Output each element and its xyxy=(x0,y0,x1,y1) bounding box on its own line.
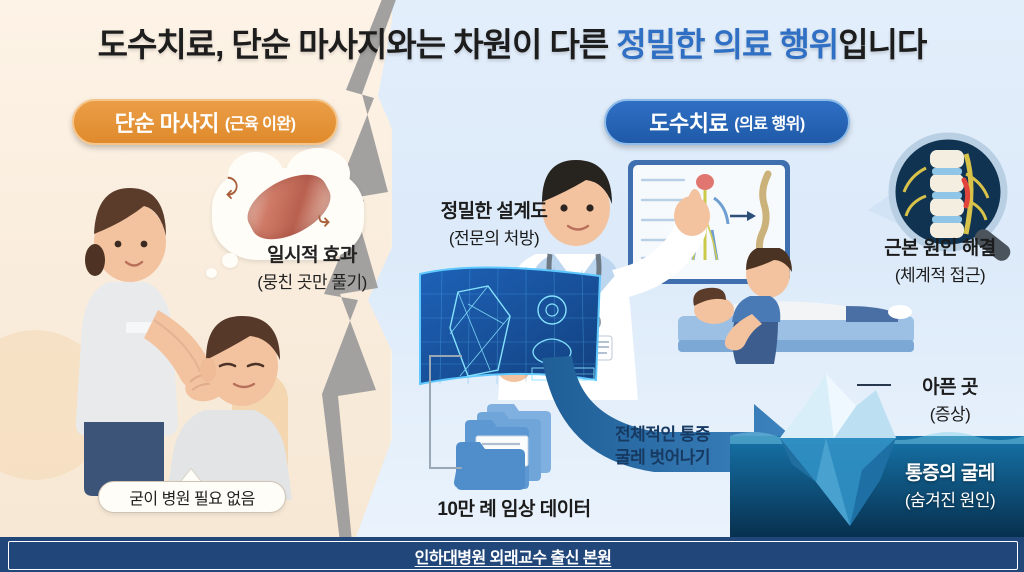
arrow-caption-line1: 전체적인 통증 xyxy=(615,424,805,447)
blueprint-label: 정밀한 설계도 (전문의 처방) xyxy=(406,196,582,249)
badge-manual-therapy: 도수치료 (의료 행위) xyxy=(604,99,850,145)
badge-right-main: 도수치료 xyxy=(649,106,728,138)
badge-right-sub: (의료 행위) xyxy=(734,110,804,134)
iceberg-hidden-cause-label: 통증의 굴레 (숨겨진 원인) xyxy=(872,458,1024,511)
badge-left-main: 단순 마사지 xyxy=(115,106,219,138)
footer-text: 인하대병원 외래교수 출신 본원 xyxy=(415,544,612,568)
blueprint-label-line2: (전문의 처방) xyxy=(406,224,582,249)
arrow-caption-line2: 굴레 벗어나기 xyxy=(615,447,805,470)
badge-left-sub: (근육 이완) xyxy=(225,110,295,134)
iceberg-symptom-label: 아픈 곳 (증상) xyxy=(890,372,1010,425)
footer-bar: 인하대병원 외래교수 출신 본원 xyxy=(0,537,1024,572)
muscle-arrow-right-icon: ⤷ xyxy=(318,208,330,232)
title-highlight: 정밀한 의료 행위 xyxy=(616,26,838,63)
temporary-effect-line1: 일시적 효과 xyxy=(228,240,396,267)
iceberg-hidden-line1: 통증의 굴레 xyxy=(872,458,1024,485)
temporary-effect-line2: (뭉친 곳만 풀기) xyxy=(228,268,396,293)
muscle-arrow-left-icon: ⤸ xyxy=(226,176,239,200)
title-part-2: 입니다 xyxy=(838,26,926,63)
clinical-data-label: 10만 례 임상 데이터 xyxy=(424,494,604,521)
badge-simple-massage: 단순 마사지 (근육 이완) xyxy=(72,99,338,145)
blueprint-label-line1: 정밀한 설계도 xyxy=(406,196,582,223)
thought-bubble-dot-small xyxy=(206,268,217,278)
arrow-caption: 전체적인 통증 굴레 벗어나기 xyxy=(615,424,805,470)
iceberg-leader-line xyxy=(857,384,891,386)
page-title: 도수치료, 단순 마사지와는 차원이 다른 정밀한 의료 행위입니다 xyxy=(0,18,1024,66)
root-cause-line2: (체계적 접근) xyxy=(860,261,1020,286)
iceberg-hidden-line2: (숨겨진 원인) xyxy=(872,486,1024,511)
iceberg-symptom-line2: (증상) xyxy=(890,400,1010,425)
title-part-1: 도수치료, 단순 마사지와는 차원이 다른 xyxy=(98,26,617,63)
iceberg-symptom-line1: 아픈 곳 xyxy=(890,372,1010,399)
temporary-effect-caption: 일시적 효과 (뭉친 곳만 풀기) xyxy=(228,240,396,293)
no-hospital-callout: 굳이 병원 필요 없음 xyxy=(98,481,286,513)
root-cause-label: 근본 원인 해결 (체계적 접근) xyxy=(860,233,1020,286)
infographic-poster: 도수치료, 단순 마사지와는 차원이 다른 정밀한 의료 행위입니다 단순 마사… xyxy=(0,0,1024,572)
root-cause-line1: 근본 원인 해결 xyxy=(860,233,1020,260)
footer-inner-border: 인하대병원 외래교수 출신 본원 xyxy=(8,541,1018,570)
connector-bracket xyxy=(424,352,464,472)
